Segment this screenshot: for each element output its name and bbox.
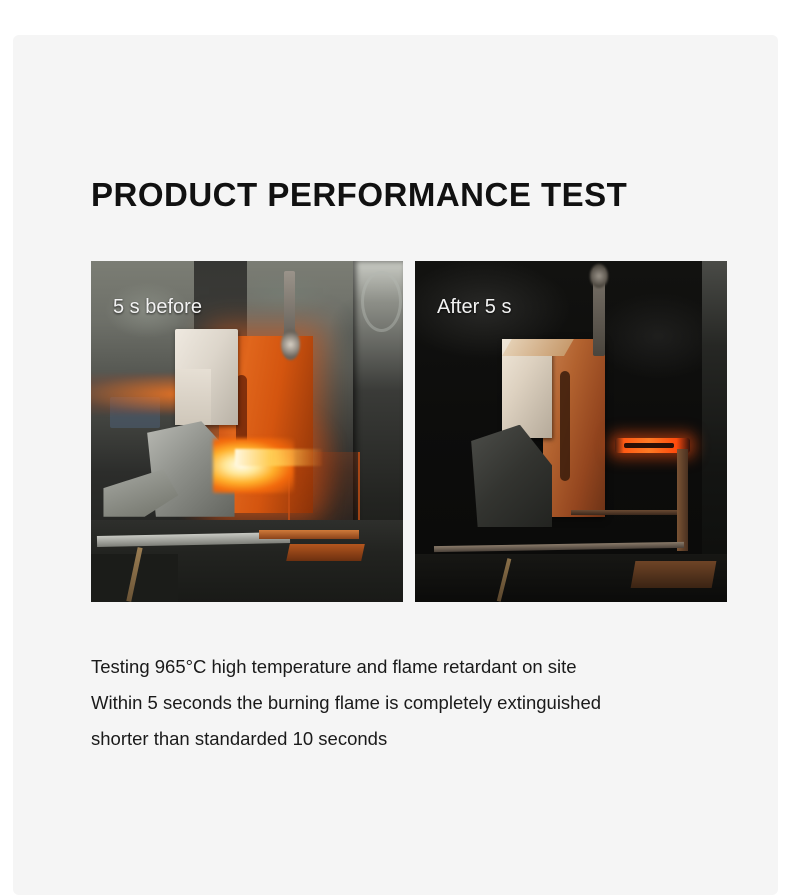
bench-rail-secondary: [571, 510, 683, 515]
flame-jet: [235, 449, 322, 466]
hot-wire-inner-gap: [624, 443, 674, 447]
white-component-top-face: [502, 339, 574, 356]
photo-gallery: 5 s before: [91, 261, 727, 602]
description-line-2: Within 5 seconds the burning flame is co…: [91, 685, 741, 721]
photo-caption-after: After 5 s: [437, 296, 511, 319]
photo-caption-before: 5 s before: [113, 296, 202, 319]
glass-reflection-ring: [361, 271, 402, 332]
rod-tip: [281, 329, 300, 360]
specimen-slot: [560, 371, 570, 481]
bench-plate: [631, 561, 717, 588]
white-component-block: [175, 329, 237, 424]
page-root: PRODUCT PERFORMANCE TEST: [0, 0, 790, 865]
bench-rail-secondary: [259, 530, 359, 538]
flame-test-burning-photo[interactable]: 5 s before: [91, 261, 403, 602]
page-title: PRODUCT PERFORMANCE TEST: [91, 176, 627, 214]
white-component-face: [175, 369, 211, 424]
description-block: Testing 965°C high temperature and flame…: [91, 649, 741, 757]
flame-test-extinguished-photo[interactable]: After 5 s: [415, 261, 727, 602]
content-card: PRODUCT PERFORMANCE TEST: [13, 35, 778, 895]
glowing-bench-plate: [286, 544, 364, 561]
bench-post: [677, 449, 688, 551]
chamber-glass-panel: [702, 261, 727, 602]
description-line-3: shorter than standarded 10 seconds: [91, 721, 741, 757]
description-line-1: Testing 965°C high temperature and flame…: [91, 649, 741, 685]
